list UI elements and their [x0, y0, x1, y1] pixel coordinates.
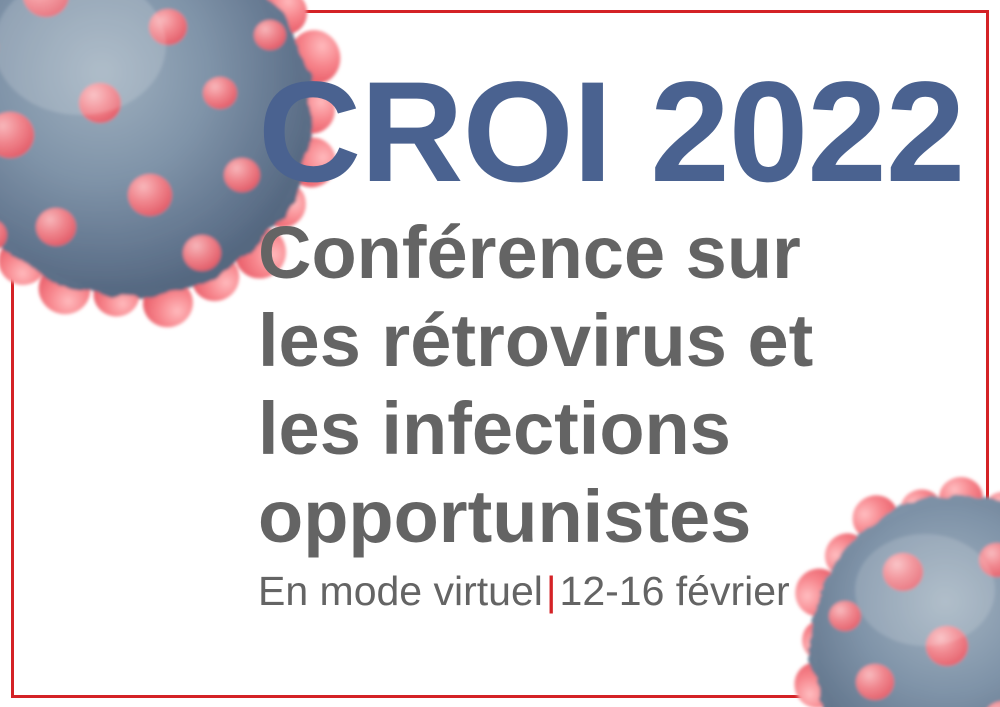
- page-title: CROI 2022: [258, 61, 964, 204]
- event-dates-label: 12-16 février: [560, 568, 790, 614]
- tagline-separator: |: [543, 568, 560, 614]
- event-tagline: En mode virtuel|12-16 février: [258, 567, 790, 616]
- subtitle-line-3: les infections: [258, 385, 813, 473]
- event-mode-label: En mode virtuel: [258, 568, 543, 614]
- page-subtitle: Conférence sur les rétrovirus et les inf…: [258, 209, 813, 561]
- poster-text-block: CROI 2022 Conférence sur les rétrovirus …: [258, 0, 978, 707]
- frame-border-right: [986, 10, 989, 698]
- subtitle-line-1: Conférence sur: [258, 209, 813, 297]
- frame-border-left: [11, 10, 14, 698]
- subtitle-line-4: opportunistes: [258, 473, 813, 561]
- conference-poster: CROI 2022 Conférence sur les rétrovirus …: [0, 0, 1000, 707]
- subtitle-line-2: les rétrovirus et: [258, 297, 813, 385]
